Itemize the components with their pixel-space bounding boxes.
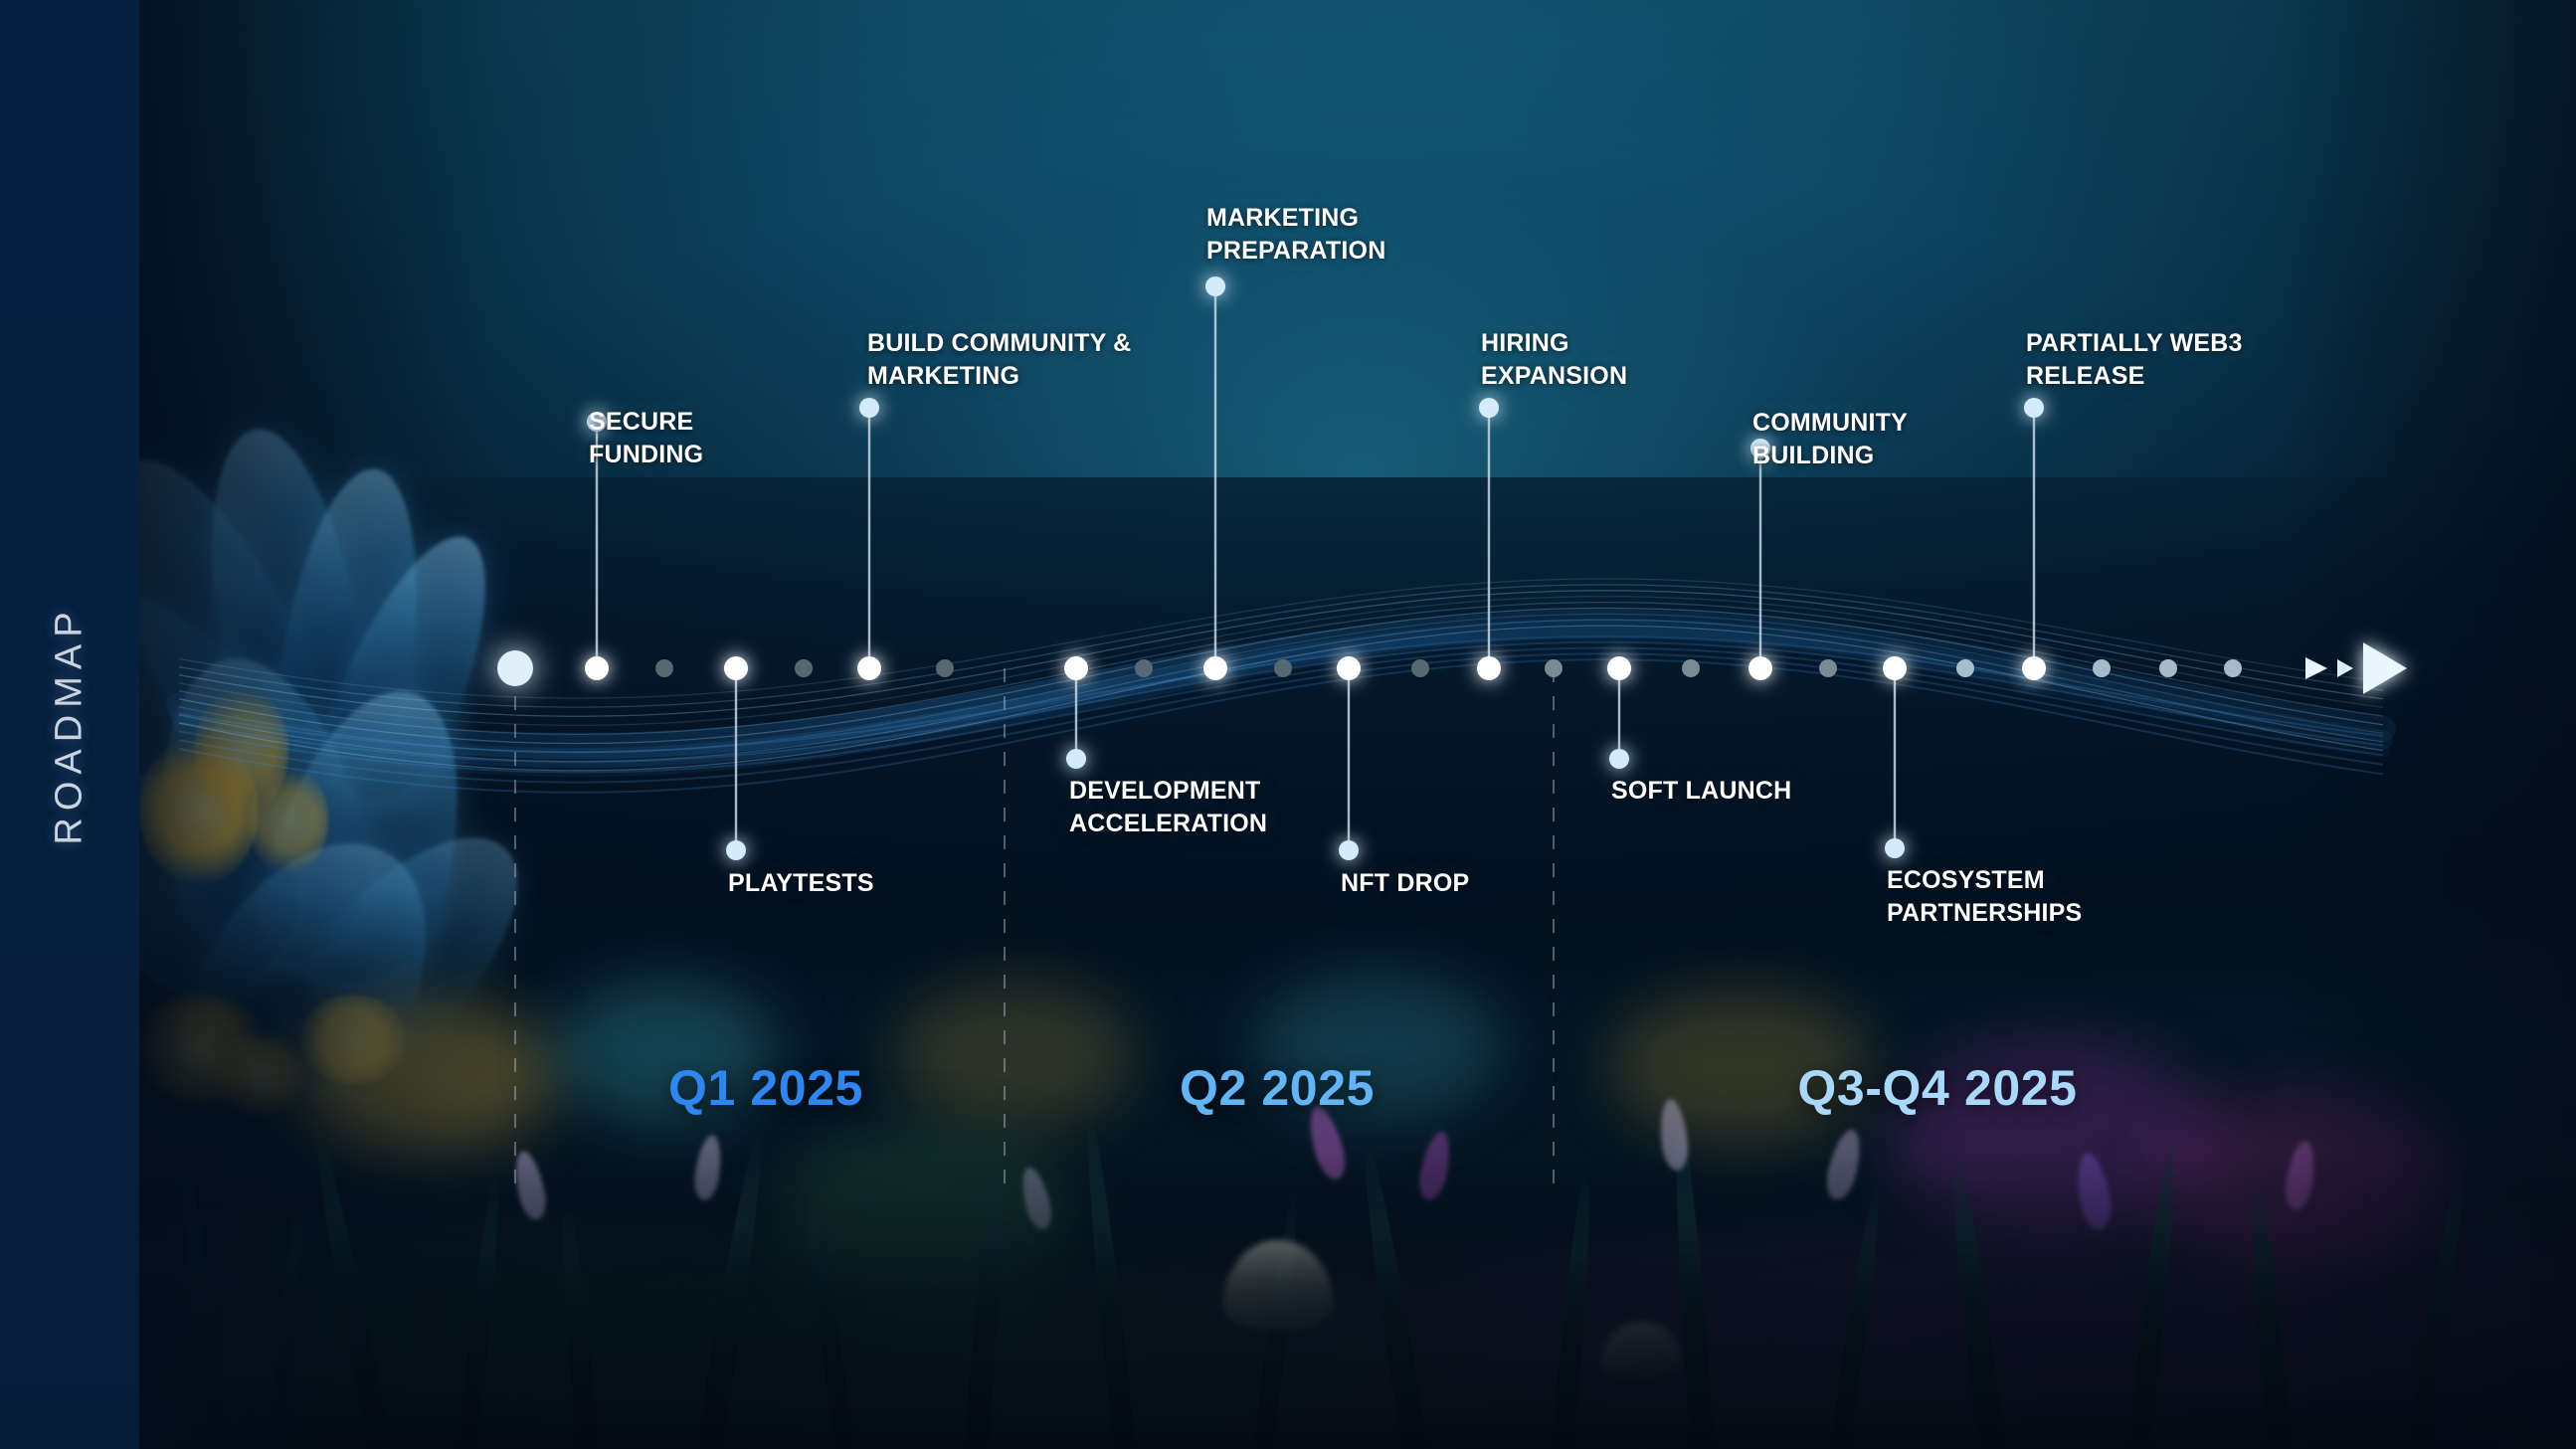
milestone-label: SOFT LAUNCH [1611, 775, 1791, 808]
milestone-label: PLAYTESTS [728, 867, 874, 900]
milestone-label: DEVELOPMENT ACCELERATION [1069, 775, 1267, 840]
roadmap-slide: ROADMAP [0, 0, 2576, 1449]
milestone-label: MARKETING PREPARATION [1206, 202, 1385, 268]
quarter-label: Q3-Q4 2025 [1797, 1059, 2077, 1117]
milestone-label: COMMUNITY BUILDING [1752, 407, 1908, 472]
milestone-nodes[interactable] [585, 276, 2046, 860]
milestone-label: BUILD COMMUNITY & MARKETING [867, 327, 1131, 393]
sidebar-title: ROADMAP [49, 605, 92, 844]
quarter-label: Q2 2025 [1180, 1059, 1375, 1117]
wave-ribbon [179, 579, 2383, 793]
milestone-label: HIRING EXPANSION [1481, 327, 1627, 393]
sidebar: ROADMAP [0, 0, 139, 1449]
milestone-label: PARTIALLY WEB3 RELEASE [2026, 327, 2243, 393]
quarter-label: Q1 2025 [668, 1059, 863, 1117]
milestone-label: SECURE FUNDING [589, 406, 703, 471]
milestone-label: NFT DROP [1341, 867, 1469, 900]
milestone-label: ECOSYSTEM PARTNERSHIPS [1887, 864, 2082, 930]
